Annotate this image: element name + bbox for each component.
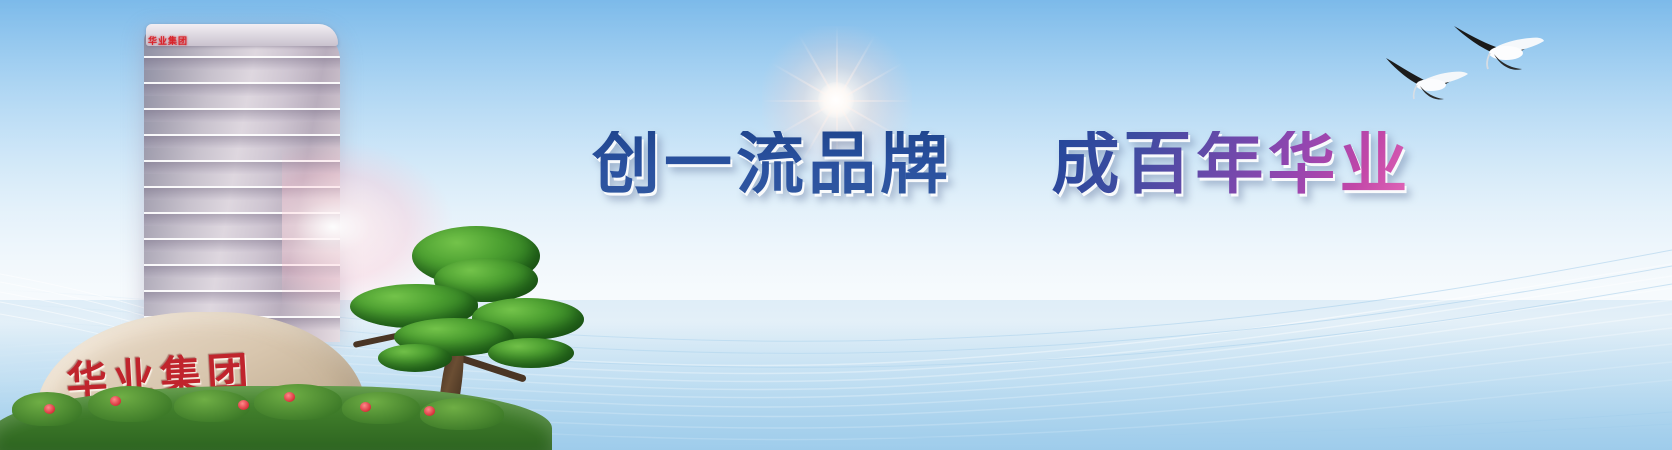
huaye-group-hero-banner: 华业集团 华业集团	[0, 0, 1672, 450]
tower-facade	[144, 30, 340, 342]
hedge-flower	[238, 400, 249, 410]
hedge-flower	[110, 396, 121, 406]
tower-floor-bands	[144, 30, 340, 342]
hedge-flower	[360, 402, 371, 412]
hedge-flower	[424, 406, 435, 416]
building-roof-sign: 华业集团	[148, 34, 188, 47]
slogan-part-two: 成百年华业	[1051, 131, 1411, 199]
hedge-flower	[284, 392, 295, 402]
sun-core	[818, 82, 854, 118]
seagull-right	[1452, 14, 1544, 72]
slogan-part-one: 创一流品牌	[592, 131, 952, 199]
hedge-flower	[44, 404, 55, 414]
canopy-left-low	[378, 344, 452, 372]
high-rise-building: 华业集团	[132, 22, 354, 342]
canopy-right-low	[488, 338, 574, 368]
page-title: 创一流品牌 成百年华业	[592, 131, 1411, 199]
